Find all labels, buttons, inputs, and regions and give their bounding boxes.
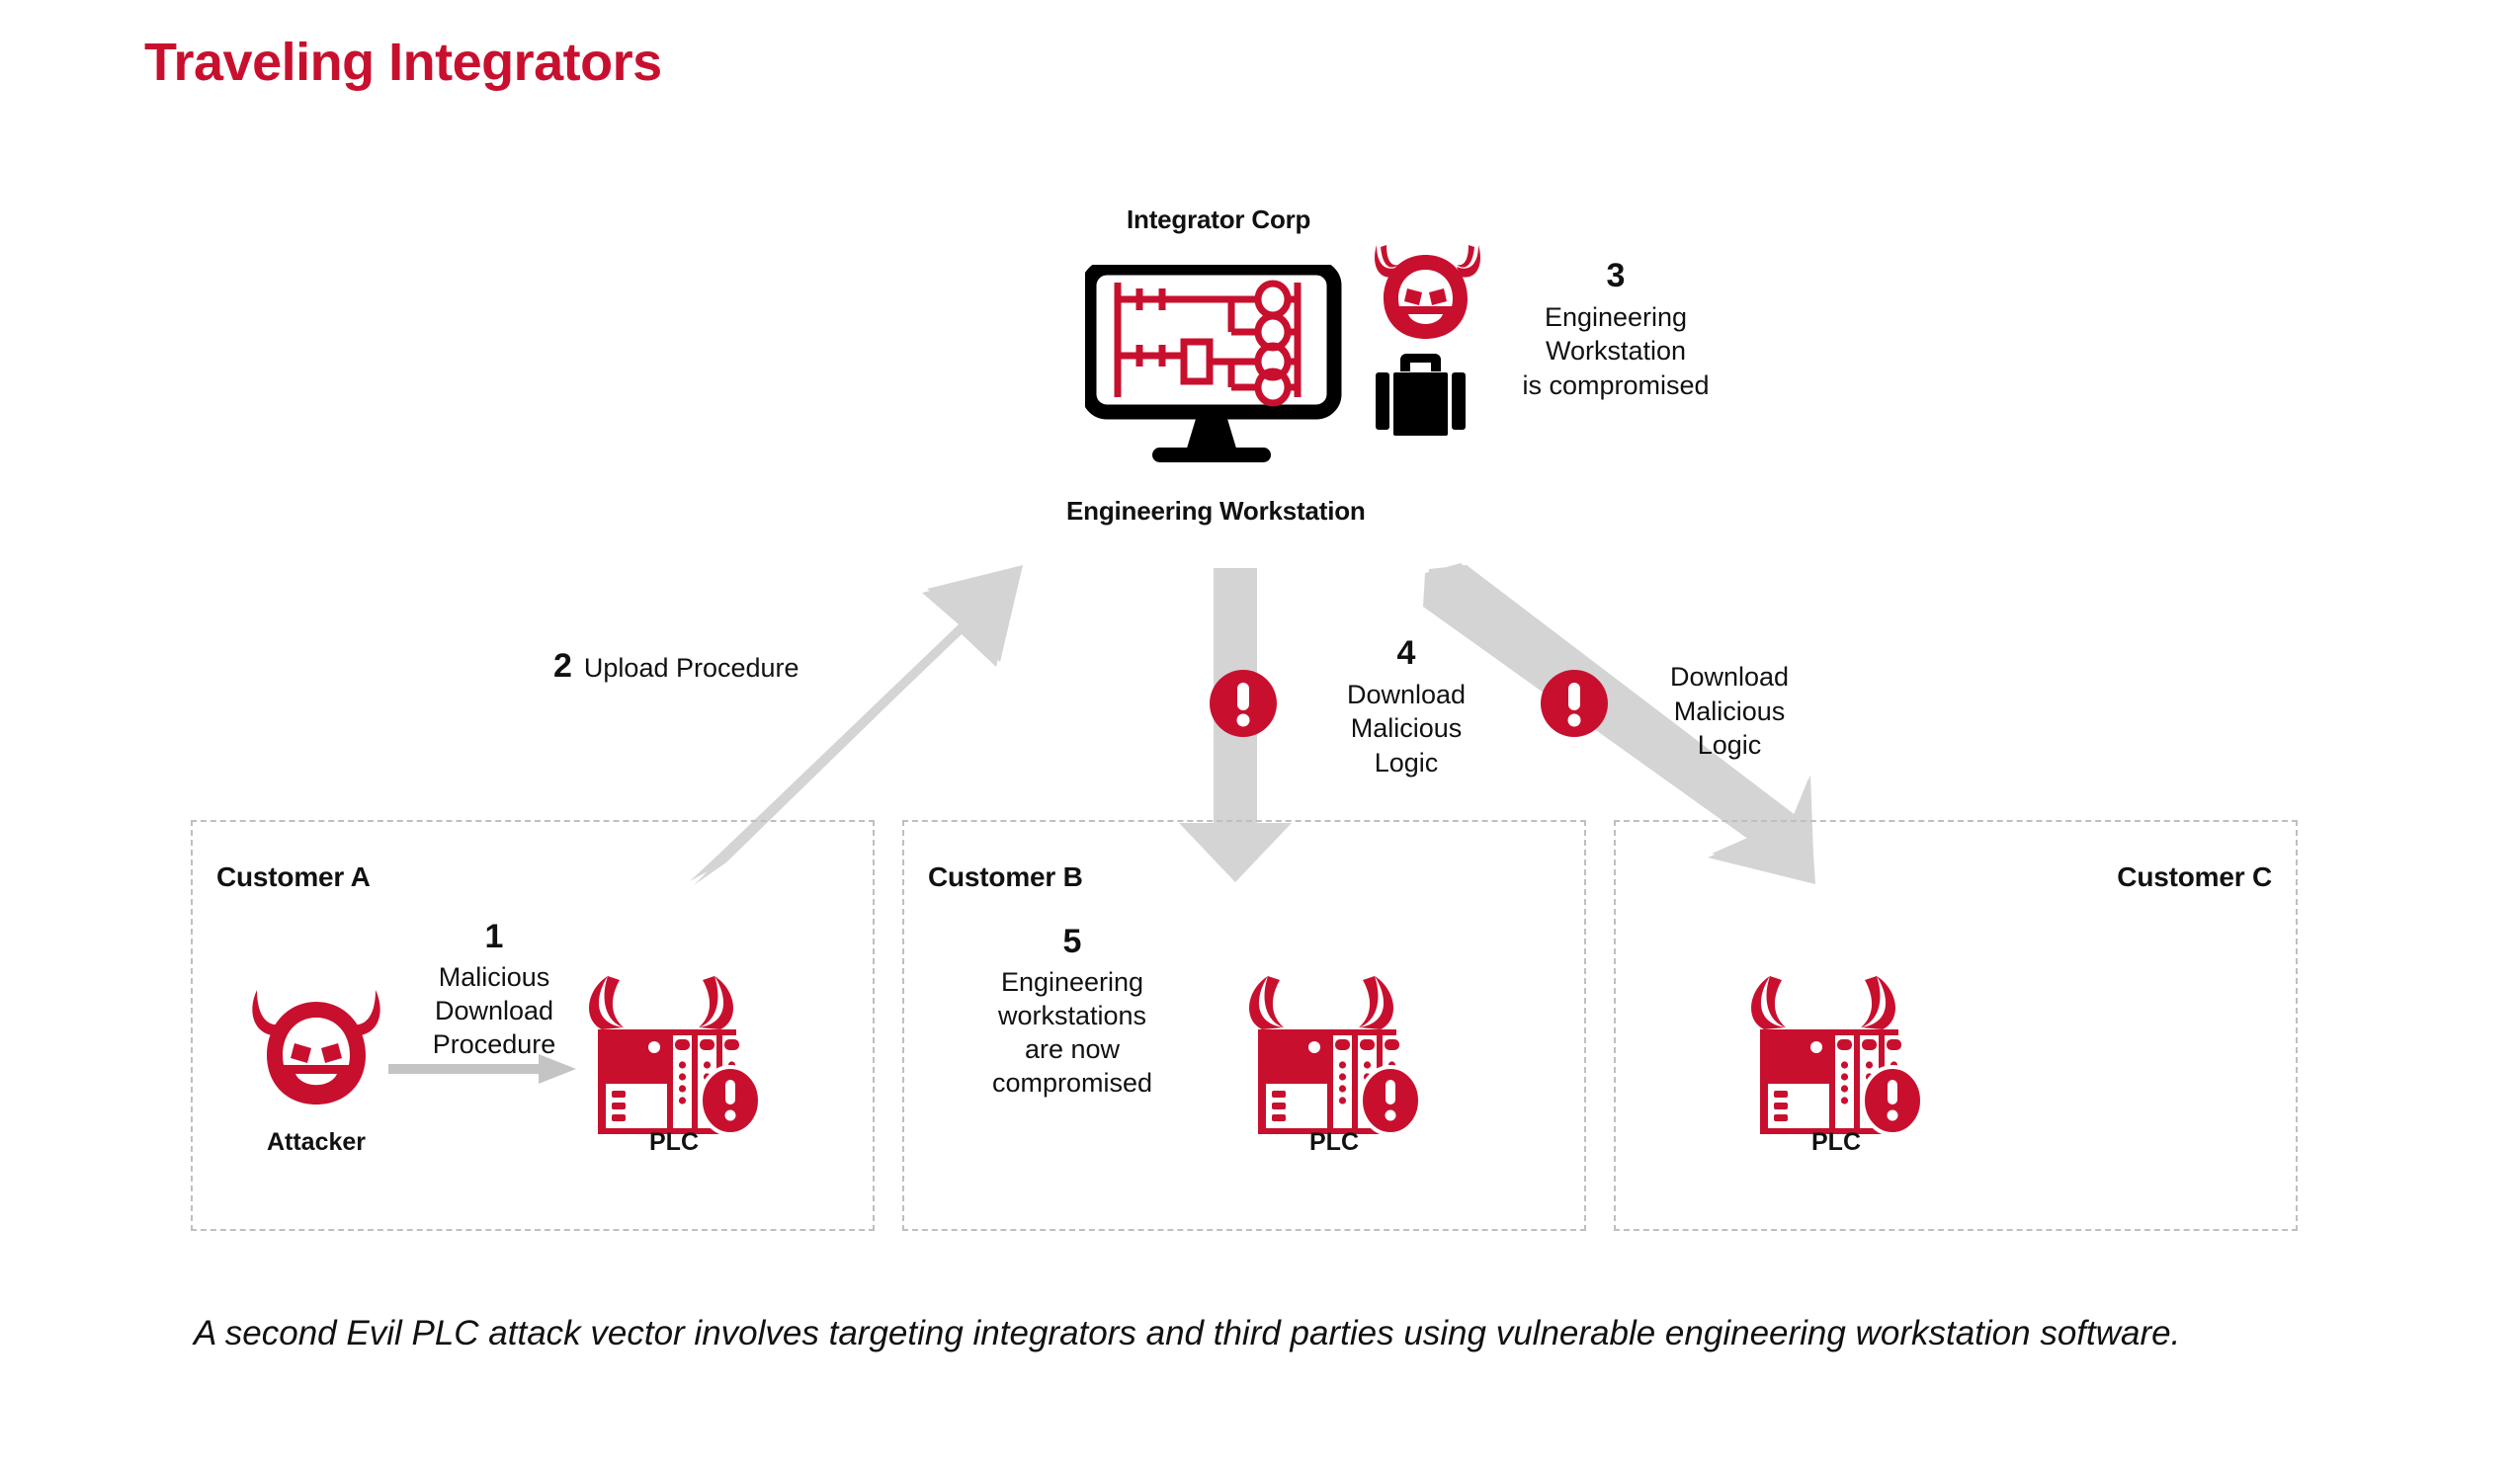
plc-icon xyxy=(1240,968,1428,1141)
note-line-3: are now xyxy=(964,1032,1181,1066)
figure-caption: A second Evil PLC attack vector involves… xyxy=(194,1309,2239,1358)
warning-exclamation-icon xyxy=(1539,668,1610,739)
integrator-corp-label: Integrator Corp xyxy=(1127,205,1310,235)
malicious-download-arrow-icon xyxy=(388,1051,576,1087)
customer-c-title: Customer C xyxy=(2117,861,2272,893)
note-line-1: Malicious xyxy=(390,960,598,994)
note-line-1: Engineering xyxy=(1492,300,1739,335)
customer-b-title: Customer B xyxy=(928,861,1083,893)
note-line-2: Workstation xyxy=(1492,334,1739,368)
customer-c-boundary: Customer C xyxy=(1614,820,2298,1231)
step-number-3: 3 xyxy=(1492,255,1739,298)
devil-face-icon xyxy=(1369,237,1482,346)
plc-caption: PLC xyxy=(580,1128,768,1157)
warning-exclamation-icon xyxy=(1208,668,1279,739)
step-number-2: 2 xyxy=(553,647,572,685)
note-line-1: Engineering xyxy=(964,965,1181,999)
plc-icon xyxy=(1742,968,1930,1141)
step-number-4: 4 xyxy=(1302,632,1510,676)
note-line-4: compromised xyxy=(964,1066,1181,1100)
note-line-3: is compromised xyxy=(1492,368,1739,403)
customer-a-note: 1 Malicious Download Procedure xyxy=(390,916,598,1061)
flow-line-1: Download xyxy=(1621,660,1838,695)
customer-b-boundary: Customer B 5 Engineering workstations ar… xyxy=(902,820,1586,1231)
attacker-devil-icon xyxy=(247,978,385,1116)
flow-label-text: Upload Procedure xyxy=(584,653,799,683)
engineering-workstation-label: Engineering Workstation xyxy=(1066,496,1366,527)
plc-caption: PLC xyxy=(1742,1128,1930,1157)
flow-line-2: Malicious xyxy=(1302,711,1510,746)
note-line-2: workstations xyxy=(964,999,1181,1032)
flow-line-1: Download xyxy=(1302,678,1510,712)
flow-label-download-malicious-logic-b: 4 Download Malicious Logic xyxy=(1302,632,1510,779)
briefcase-icon xyxy=(1374,346,1468,445)
flow-line-3: Logic xyxy=(1621,728,1838,763)
page-title: Traveling Integrators xyxy=(144,32,662,93)
engineering-workstation-monitor-icon xyxy=(1085,265,1352,467)
customer-a-title: Customer A xyxy=(216,861,371,893)
flow-label-upload-procedure: 2Upload Procedure xyxy=(553,647,799,686)
step-number-1: 1 xyxy=(390,916,598,958)
plc-icon xyxy=(580,968,768,1141)
workstation-compromised-note: 3 Engineering Workstation is compromised xyxy=(1492,255,1739,402)
step-number-5: 5 xyxy=(964,921,1181,963)
flow-line-3: Logic xyxy=(1302,746,1510,780)
note-line-2: Download xyxy=(390,994,598,1027)
customer-a-boundary: Customer A Attacker 1 Malicious Download… xyxy=(191,820,875,1231)
attacker-caption: Attacker xyxy=(247,1128,385,1157)
plc-caption: PLC xyxy=(1240,1128,1428,1157)
flow-label-download-malicious-logic-c: Download Malicious Logic xyxy=(1621,660,1838,763)
flow-line-2: Malicious xyxy=(1621,695,1838,729)
customer-b-note: 5 Engineering workstations are now compr… xyxy=(964,921,1181,1100)
